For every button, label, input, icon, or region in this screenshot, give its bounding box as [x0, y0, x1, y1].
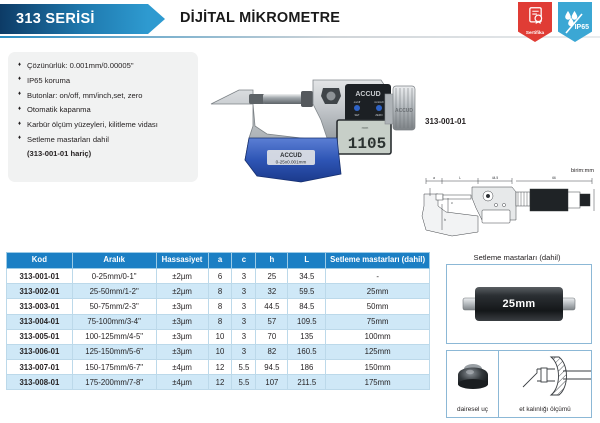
feature-item: Çözünürlük: 0.001mm/0.00005": [18, 62, 190, 70]
cell-a: 12: [208, 360, 232, 375]
micrometer-dimension-drawing: a L 44.5 66 c h: [416, 174, 598, 240]
column-header-h: h: [256, 253, 288, 269]
spherical-tip-panel: dairesel uç: [446, 350, 499, 418]
column-header-a: a: [208, 253, 232, 269]
setting-gauge-illustration: [461, 283, 577, 325]
brand-mark: ACCUD: [355, 91, 380, 98]
cell-c: 3: [232, 314, 256, 329]
cell-h: 94.5: [256, 360, 288, 375]
table-row: 313-006-01 125-150mm/5-6" ±3µm 10 3 82 1…: [7, 344, 430, 359]
spherical-tip-icon: [447, 351, 500, 401]
certificate-badge-label: Sertifika: [518, 30, 552, 35]
cell-c: 3: [232, 329, 256, 344]
specifications-table: Kod Aralık Hassasiyet a c h L Setleme ma…: [6, 252, 430, 390]
cell-h: 82: [256, 344, 288, 359]
cell-c: 5.5: [232, 360, 256, 375]
feature-item: Butonlar: on/off, mm/inch,set, zero: [18, 92, 190, 100]
certificate-badge: Sertifika: [518, 2, 552, 42]
cell-kod: 313-006-01: [7, 344, 73, 359]
column-header-kod: Kod: [7, 253, 73, 269]
cell-kod: 313-001-01: [7, 268, 73, 283]
cell-aralik: 150-175mm/6-7": [72, 360, 156, 375]
cell-setleme: 150mm: [326, 360, 430, 375]
cell-l: 34.5: [288, 268, 326, 283]
cell-l: 160.5: [288, 344, 326, 359]
badge-group: Sertifika IP65: [518, 2, 592, 42]
cell-aralik: 75-100mm/3-4": [72, 314, 156, 329]
svg-text:44.5: 44.5: [492, 176, 498, 180]
spherical-tip-caption: dairesel uç: [447, 406, 498, 413]
cell-aralik: 50-75mm/2-3": [72, 299, 156, 314]
table-row: 313-007-01 150-175mm/6-7" ±4µm 12 5.5 94…: [7, 360, 430, 375]
cell-setleme: -: [326, 268, 430, 283]
base-brand: ACCUD: [280, 153, 302, 159]
svg-text:c: c: [451, 201, 453, 205]
feature-item: Otomatik kapanma: [18, 106, 190, 114]
cell-l: 59.5: [288, 284, 326, 299]
technical-drawing: a L 44.5 66 c h: [416, 174, 598, 240]
cell-setleme: 100mm: [326, 329, 430, 344]
table-row: 313-008-01 175-200mm/7-8" ±4µm 12 5.5 10…: [7, 375, 430, 390]
feature-item: Setleme mastarları dahil: [18, 136, 190, 144]
svg-text:SET: SET: [354, 113, 359, 117]
svg-text:ACCUD: ACCUD: [395, 108, 413, 114]
cell-h: 107: [256, 375, 288, 390]
column-header-setleme: Setleme mastarları (dahil): [326, 253, 430, 269]
cell-l: 186: [288, 360, 326, 375]
cell-hassasiyet: ±3µm: [156, 344, 208, 359]
cell-aralik: 25-50mm/1-2": [72, 284, 156, 299]
svg-text:mm: mm: [362, 125, 369, 130]
feature-note: (313-001-01 hariç): [18, 149, 190, 158]
table-row: 313-003-01 50-75mm/2-3" ±3µm 8 3 44.5 84…: [7, 299, 430, 314]
header-divider: [0, 36, 600, 38]
table-row: 313-002-01 25-50mm/1-2" ±2µm 8 3 32 59.5…: [7, 284, 430, 299]
cell-setleme: 125mm: [326, 344, 430, 359]
lcd-reading: 1105: [348, 135, 386, 153]
cell-hassasiyet: ±2µm: [156, 268, 208, 283]
water-drop-icon: [560, 7, 590, 37]
column-header-hassasiyet: Hassasiyet: [156, 253, 208, 269]
wall-thickness-panel: et kalınlığı ölçümü: [499, 350, 592, 418]
cell-l: 211.5: [288, 375, 326, 390]
cell-h: 44.5: [256, 299, 288, 314]
cell-c: 5.5: [232, 375, 256, 390]
svg-text:mm/inch: mm/inch: [374, 100, 384, 104]
cell-setleme: 25mm: [326, 284, 430, 299]
cell-hassasiyet: ±4µm: [156, 375, 208, 390]
certificate-icon: [527, 6, 544, 25]
cell-kod: 313-003-01: [7, 299, 73, 314]
base-spec: 0-25x0.001mm: [276, 160, 307, 165]
cell-hassasiyet: ±3µm: [156, 299, 208, 314]
cell-l: 135: [288, 329, 326, 344]
cell-kod: 313-004-01: [7, 314, 73, 329]
ip65-badge: IP65: [558, 2, 592, 42]
digital-micrometer-illustration: ACCUD on/off SET mm/inch ZERO mm 1105 AC…: [205, 42, 420, 187]
page-header: 313 SERİSİ DİJİTAL MİKROMETRE: [0, 4, 600, 38]
cell-hassasiyet: ±2µm: [156, 284, 208, 299]
column-header-l: L: [288, 253, 326, 269]
table-row: 313-001-01 0-25mm/0-1" ±2µm 6 3 25 34.5 …: [7, 268, 430, 283]
product-photo: ACCUD on/off SET mm/inch ZERO mm 1105 AC…: [205, 42, 420, 187]
svg-text:L: L: [459, 176, 461, 180]
cell-hassasiyet: ±4µm: [156, 360, 208, 375]
cell-kod: 313-002-01: [7, 284, 73, 299]
cell-hassasiyet: ±3µm: [156, 314, 208, 329]
cell-c: 3: [232, 344, 256, 359]
series-tag: 313 SERİSİ: [0, 4, 148, 34]
cell-kod: 313-008-01: [7, 375, 73, 390]
cell-aralik: 175-200mm/7-8": [72, 375, 156, 390]
series-arrow-icon: [148, 4, 165, 34]
series-label: 313 SERİSİ: [0, 11, 95, 27]
ip65-badge-label: IP65: [575, 24, 589, 31]
svg-text:on/off: on/off: [354, 100, 361, 104]
cell-aralik: 100-125mm/4-5": [72, 329, 156, 344]
cell-a: 12: [208, 375, 232, 390]
cell-aralik: 125-150mm/5-6": [72, 344, 156, 359]
cell-aralik: 0-25mm/0-1": [72, 268, 156, 283]
cell-a: 8: [208, 284, 232, 299]
cell-c: 3: [232, 268, 256, 283]
svg-text:66: 66: [552, 176, 556, 180]
table-row: 313-004-01 75-100mm/3-4" ±3µm 8 3 57 109…: [7, 314, 430, 329]
cell-setleme: 50mm: [326, 299, 430, 314]
cell-l: 84.5: [288, 299, 326, 314]
wall-thickness-caption: et kalınlığı ölçümü: [499, 406, 591, 413]
page-title: DİJİTAL MİKROMETRE: [180, 10, 340, 26]
features-box: Çözünürlük: 0.001mm/0.00005" IP65 koruma…: [8, 52, 198, 182]
svg-text:ZERO: ZERO: [375, 113, 382, 117]
cell-h: 57: [256, 314, 288, 329]
cell-l: 109.5: [288, 314, 326, 329]
cell-a: 10: [208, 329, 232, 344]
cell-kod: 313-005-01: [7, 329, 73, 344]
column-header-c: c: [232, 253, 256, 269]
wall-thickness-measurement-icon: [499, 351, 592, 401]
cell-a: 6: [208, 268, 232, 283]
table-row: 313-005-01 100-125mm/4-5" ±3µm 10 3 70 1…: [7, 329, 430, 344]
cell-h: 70: [256, 329, 288, 344]
cell-h: 32: [256, 284, 288, 299]
cell-h: 25: [256, 268, 288, 283]
cell-a: 8: [208, 299, 232, 314]
cell-c: 3: [232, 299, 256, 314]
cell-a: 8: [208, 314, 232, 329]
cell-setleme: 175mm: [326, 375, 430, 390]
column-header-aralik: Aralık: [72, 253, 156, 269]
feature-item: IP65 koruma: [18, 77, 190, 85]
cell-kod: 313-007-01: [7, 360, 73, 375]
product-model-label: 313-001-01: [425, 117, 466, 126]
cell-a: 10: [208, 344, 232, 359]
cell-setleme: 75mm: [326, 314, 430, 329]
cell-c: 3: [232, 284, 256, 299]
feature-item: Karbür ölçüm yüzeyleri, kilitleme vidası: [18, 121, 190, 129]
svg-text:h: h: [444, 218, 446, 222]
setting-standards-title: Setleme mastarları (dahil): [438, 253, 596, 262]
cell-hassasiyet: ±3µm: [156, 329, 208, 344]
svg-text:a: a: [433, 176, 435, 180]
setting-standards-panel: 25mm: [446, 264, 592, 344]
table-header-row: Kod Aralık Hassasiyet a c h L Setleme ma…: [7, 253, 430, 269]
